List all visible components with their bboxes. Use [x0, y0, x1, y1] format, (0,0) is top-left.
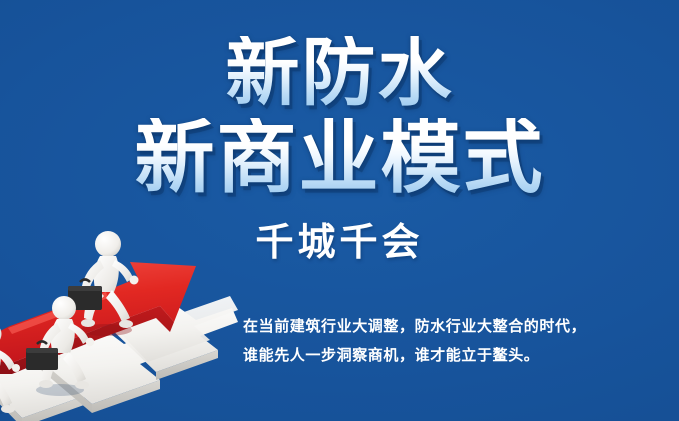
illustration-svg [0, 222, 238, 421]
poster-canvas: 新防水 新商业模式 千城千会 在当前建筑行业大调整，防水行业大整合的时代， 谁能… [0, 0, 679, 421]
illustration-businessmen-arrow [0, 222, 238, 421]
